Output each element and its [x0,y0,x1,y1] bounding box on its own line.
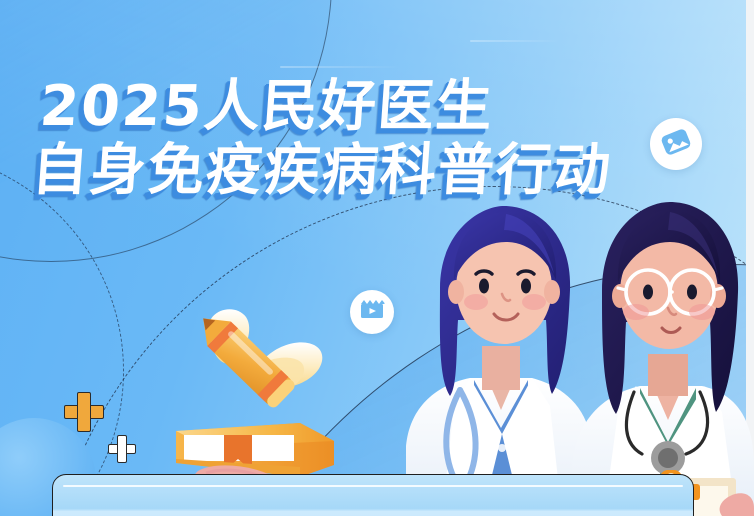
image-icon [660,126,692,163]
plus-decoration-orange [64,392,104,432]
plus-decoration-white [108,435,136,463]
video-clapperboard-icon [359,297,385,328]
background-streak-1 [280,66,400,68]
doctor-female-right [572,202,754,516]
doctor-female-left [406,206,592,516]
photo-badge[interactable] [650,118,702,170]
stethoscope-chestpiece [651,441,685,475]
poster-root: 2025人民好医生 自身免疫疾病科普行动 [0,0,754,516]
title-line-2: 自身免疫疾病科普行动 [30,142,614,200]
video-badge[interactable] [350,290,394,334]
book [176,423,334,477]
plus-bar-vertical [77,392,91,432]
title-line-1: 2025人民好医生 [38,78,614,136]
plus-bar-vertical [117,435,127,463]
winged-pencil-and-book-illustration [150,295,350,495]
doctors-illustration [396,196,754,516]
bottom-banner [52,474,694,516]
poster-title: 2025人民好医生 自身免疫疾病科普行动 [32,78,612,200]
background-streak-2 [470,40,560,42]
